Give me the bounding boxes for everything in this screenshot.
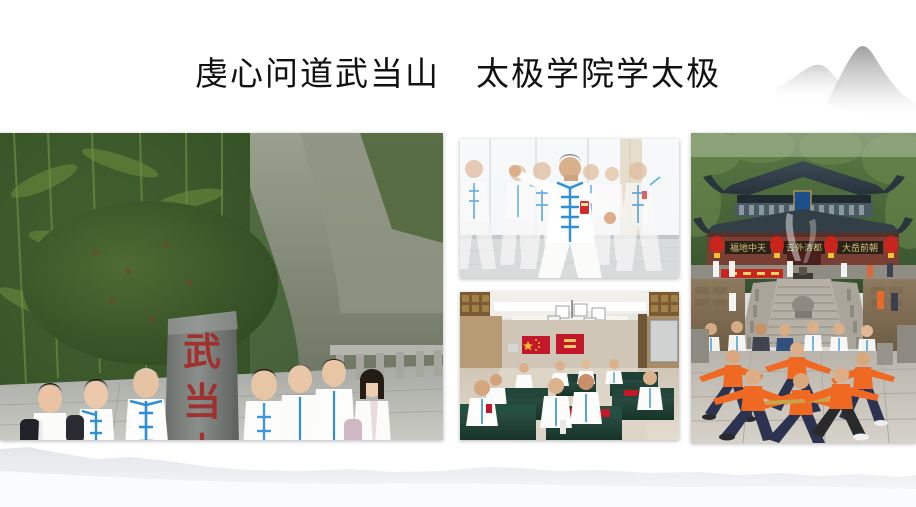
ink-mountain-bottom-decoration (0, 437, 916, 507)
photo-indoor-taichi-practice (460, 139, 679, 278)
page-title: 虔心问道武当山太极学院学太极 (0, 52, 916, 96)
svg-text:当: 当 (183, 379, 221, 424)
photo-temple-and-wushu-demo: 福地中天 云外清都 大岳前朝 (691, 133, 916, 443)
svg-text:山: 山 (183, 429, 221, 440)
photo-academy-classroom (460, 292, 679, 440)
photo-group-at-wudang-stele: 武 当 山 (0, 133, 443, 440)
title-part-2: 太极学院学太极 (476, 52, 721, 96)
svg-text:武: 武 (183, 329, 221, 374)
svg-text:福地中天: 福地中天 (730, 242, 766, 254)
title-part-1: 虔心问道武当山 (195, 52, 440, 96)
slide-root: 虔心问道武当山太极学院学太极 (0, 0, 916, 507)
svg-text:大岳前朝: 大岳前朝 (842, 242, 878, 254)
wudang-stone-stele: 武 当 山 (158, 311, 250, 440)
